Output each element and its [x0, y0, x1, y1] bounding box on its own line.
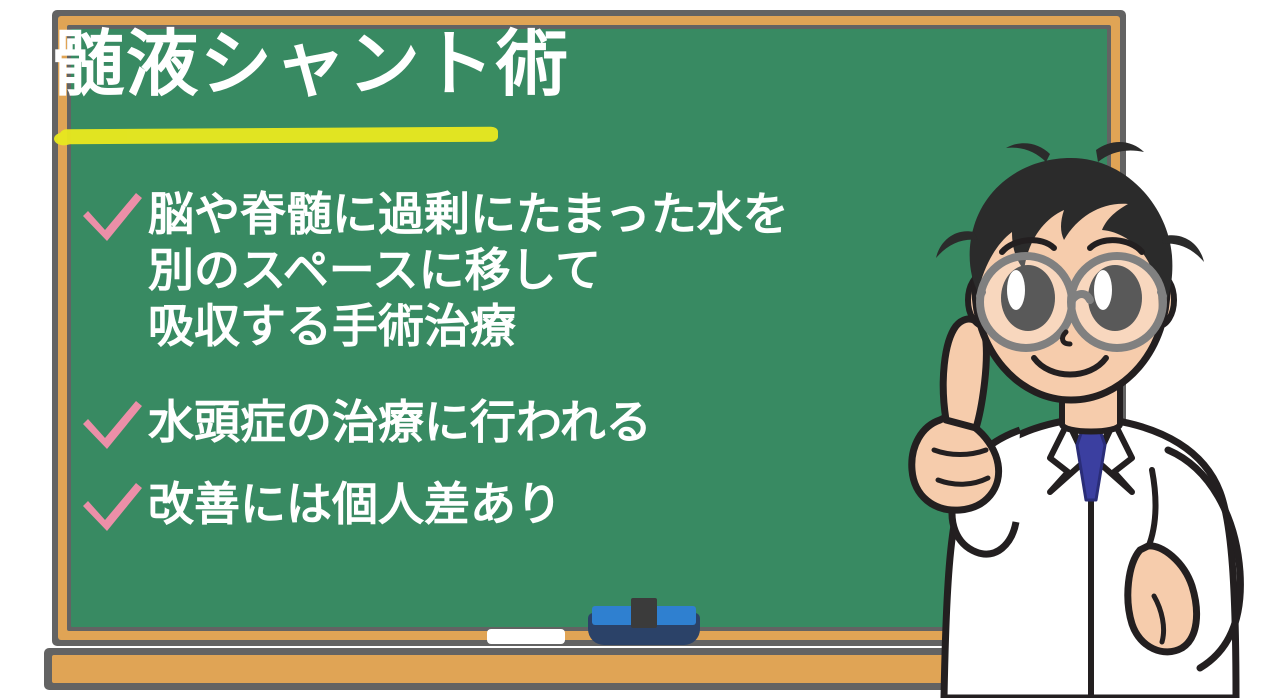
list-item-line: 脳や脊髄に過剰にたまった水を [148, 186, 1038, 242]
list-item-text: 水頭症の治療に行われる [146, 394, 1038, 450]
chalk-tray [44, 648, 1234, 690]
list-item-text: 改善には個人差あり [146, 476, 1038, 532]
check-icon [78, 480, 146, 536]
title-text: 髄液シャント術 [52, 28, 752, 100]
list-item: 水頭症の治療に行われる [78, 394, 1038, 454]
list-item: 脳や脊髄に過剰にたまった水を 別のスペースに移して 吸収する手術治療 [78, 186, 1038, 354]
eraser-handle [631, 598, 657, 628]
blackboard-eraser-icon [588, 598, 700, 645]
check-icon [78, 398, 146, 454]
list-item-line: 吸収する手術治療 [148, 298, 1038, 354]
list-item-line: 改善には個人差あり [148, 476, 1038, 532]
bullet-list: 脳や脊髄に過剰にたまった水を 別のスペースに移して 吸収する手術治療 水頭症の治… [78, 186, 1038, 558]
list-item-line: 別のスペースに移して [148, 242, 1038, 298]
list-item: 改善には個人差あり [78, 476, 1038, 536]
title-underline-marker [60, 127, 498, 145]
board-title: 髄液シャント術 [52, 28, 752, 100]
chalk-stick-icon [487, 629, 565, 644]
list-item-text: 脳や脊髄に過剰にたまった水を 別のスペースに移して 吸収する手術治療 [146, 186, 1038, 354]
check-icon [78, 190, 146, 246]
list-item-line: 水頭症の治療に行われる [148, 394, 1038, 450]
right-arm-on-hip [1128, 450, 1241, 668]
chalk-tray-surface [52, 655, 1226, 683]
slide-canvas: 髄液シャント術 脳や脊髄に過剰にたまった水を 別のスペースに移して 吸収する手術… [0, 0, 1280, 698]
